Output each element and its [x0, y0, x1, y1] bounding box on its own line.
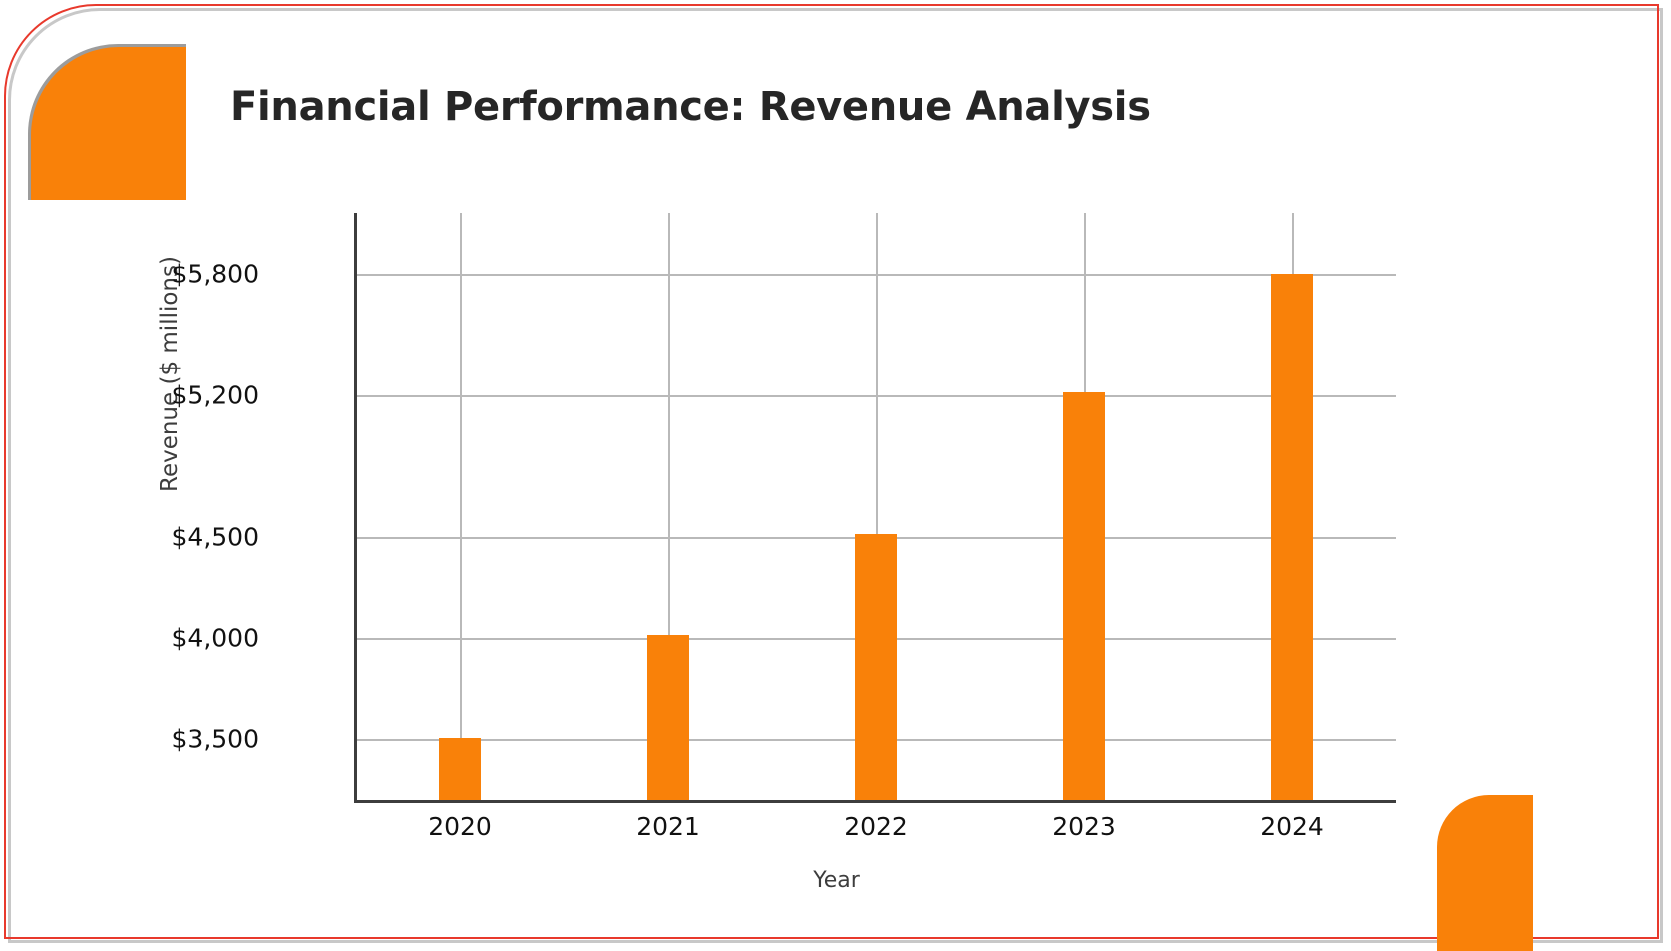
bar-2021 [647, 635, 689, 800]
y-axis-spine [354, 213, 357, 802]
bar-2024 [1271, 274, 1313, 800]
slide-canvas: Financial Performance: Revenue Analysis … [0, 0, 1671, 951]
gridline-vertical [460, 213, 462, 800]
y-axis-tick-label: $5,200 [172, 381, 259, 410]
x-axis-tick-label: 2024 [1260, 812, 1324, 841]
x-axis-title-text: Year [813, 868, 860, 893]
x-axis-title: Year [0, 868, 1671, 893]
y-axis-tick-label: $5,800 [172, 259, 259, 288]
bar-2022 [855, 534, 897, 800]
y-axis-tick-label: $3,500 [172, 725, 259, 754]
x-axis-tick-label: 2023 [1052, 812, 1116, 841]
x-axis-spine [354, 800, 1396, 803]
y-axis-tick-label: $4,500 [172, 522, 259, 551]
x-axis-tick-label: 2020 [428, 812, 492, 841]
bar-2020 [439, 738, 481, 800]
x-axis-tick-label: 2022 [844, 812, 908, 841]
bar-2023 [1063, 392, 1105, 800]
chart-title: Financial Performance: Revenue Analysis [230, 84, 1151, 130]
plot-area [356, 213, 1396, 800]
y-axis-title: Revenue ($ millions) [157, 256, 183, 492]
y-axis-tick-label: $4,000 [172, 624, 259, 653]
x-axis-tick-label: 2021 [636, 812, 700, 841]
